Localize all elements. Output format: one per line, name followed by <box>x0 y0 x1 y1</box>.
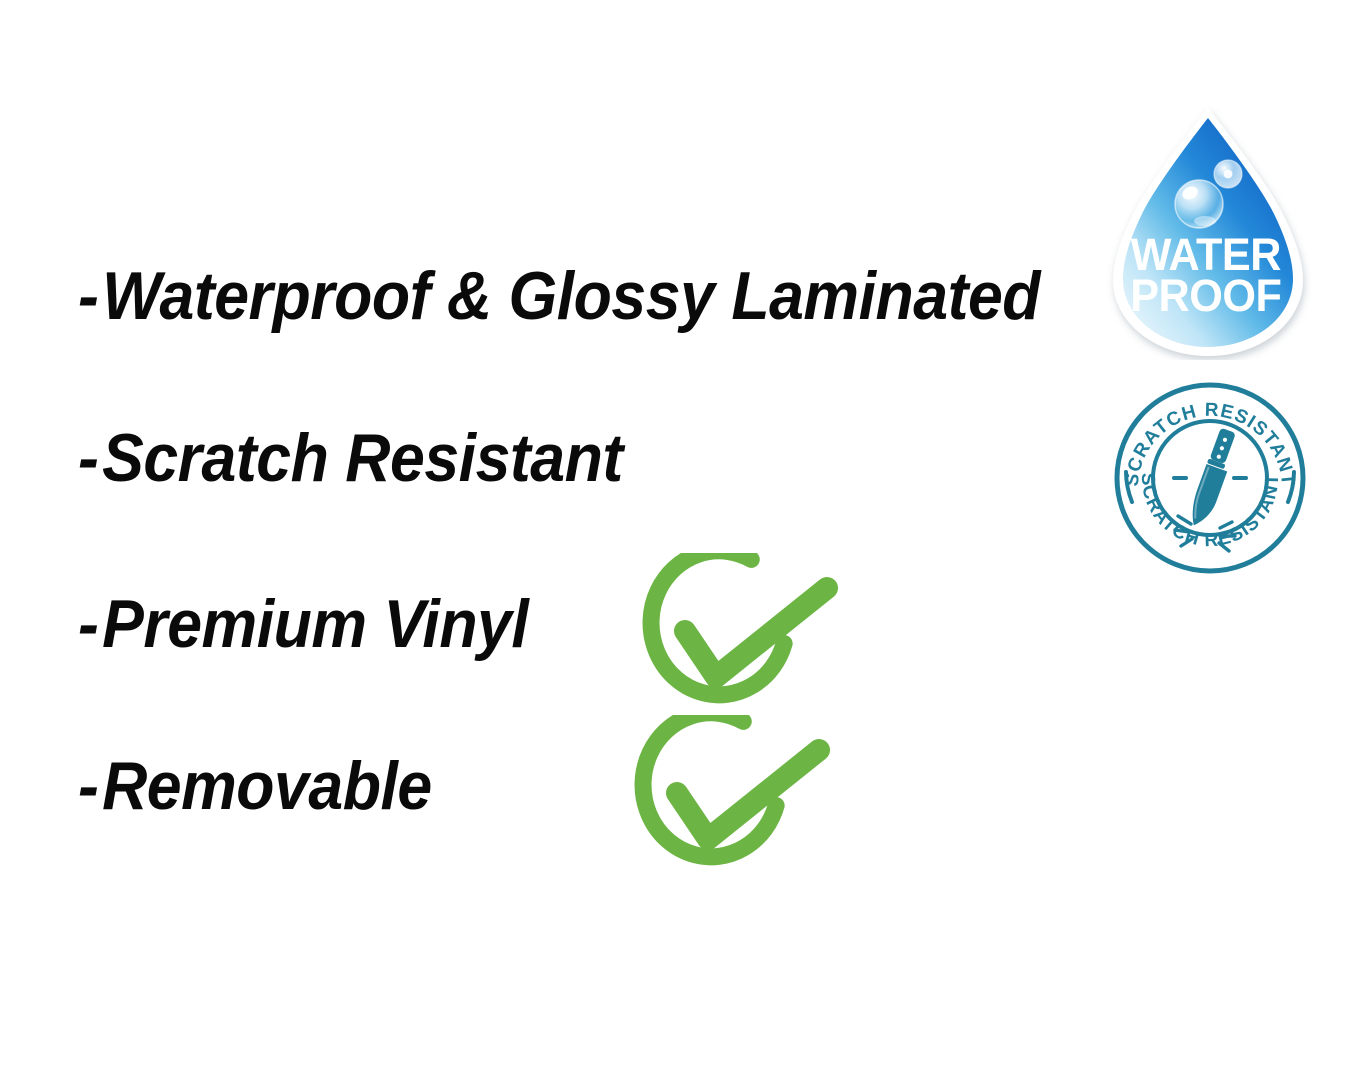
bubble-small-highlight <box>1224 170 1233 179</box>
feature-label: Waterproof & Glossy Laminated <box>102 258 1040 334</box>
feature-label: Premium Vinyl <box>102 586 528 662</box>
waterproof-line2: PROOF <box>1130 271 1281 321</box>
check-circle-icon-2 <box>632 715 832 887</box>
feature-bullet-dash: - <box>78 262 98 330</box>
check-mark <box>685 588 827 677</box>
feature-label: Removable <box>102 748 432 824</box>
feature-bullet-dash: - <box>78 424 98 492</box>
bubble-large-lowlight <box>1194 216 1216 226</box>
feature-item-removable: -Removable <box>78 752 432 820</box>
check-mark <box>677 750 819 839</box>
feature-item-premium-vinyl: -Premium Vinyl <box>78 590 528 658</box>
feature-list-graphic: -Waterproof & Glossy Laminated -Scratch … <box>0 0 1359 1080</box>
feature-bullet-dash: - <box>78 590 98 658</box>
scratch-resistant-badge: SCRATCH RESISTANT SCRATCH RESISTANT <box>1112 380 1308 576</box>
knife-handle <box>1210 428 1236 464</box>
feature-item-waterproof: -Waterproof & Glossy Laminated <box>78 262 1040 330</box>
feature-bullet-dash: - <box>78 752 98 820</box>
feature-label: Scratch Resistant <box>102 420 623 496</box>
waterproof-badge: WATER PROOF <box>1105 104 1311 360</box>
check-circle-icon-1 <box>640 553 840 725</box>
feature-item-scratch-resistant: -Scratch Resistant <box>78 424 623 492</box>
